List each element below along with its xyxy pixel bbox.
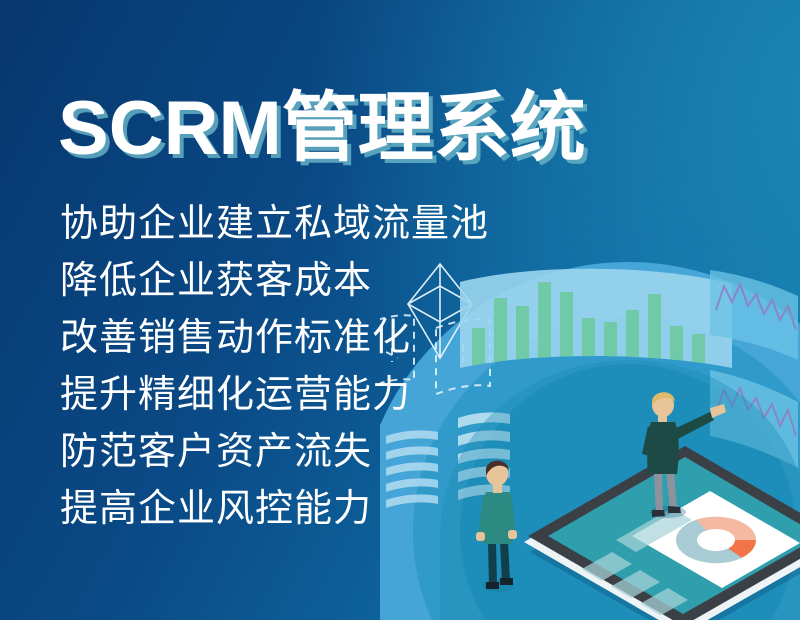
list-item: 提高企业风控能力 [60, 481, 678, 538]
list-item: 降低企业获客成本 [60, 253, 678, 310]
list-item: 提升精细化运营能力 [60, 367, 678, 424]
list-item: 防范客户资产流失 [60, 424, 678, 481]
page-title: SCRM管理系统 [58, 84, 678, 174]
scrm-promo-banner: SCRM管理系统 协助企业建立私域流量池 降低企业获客成本 改善销售动作标准化 … [0, 0, 800, 620]
list-item: 改善销售动作标准化 [60, 310, 678, 367]
banner-text-block: SCRM管理系统 协助企业建立私域流量池 降低企业获客成本 改善销售动作标准化 … [58, 84, 678, 538]
list-item: 协助企业建立私域流量池 [60, 196, 678, 253]
feature-list: 协助企业建立私域流量池 降低企业获客成本 改善销售动作标准化 提升精细化运营能力… [60, 196, 678, 538]
